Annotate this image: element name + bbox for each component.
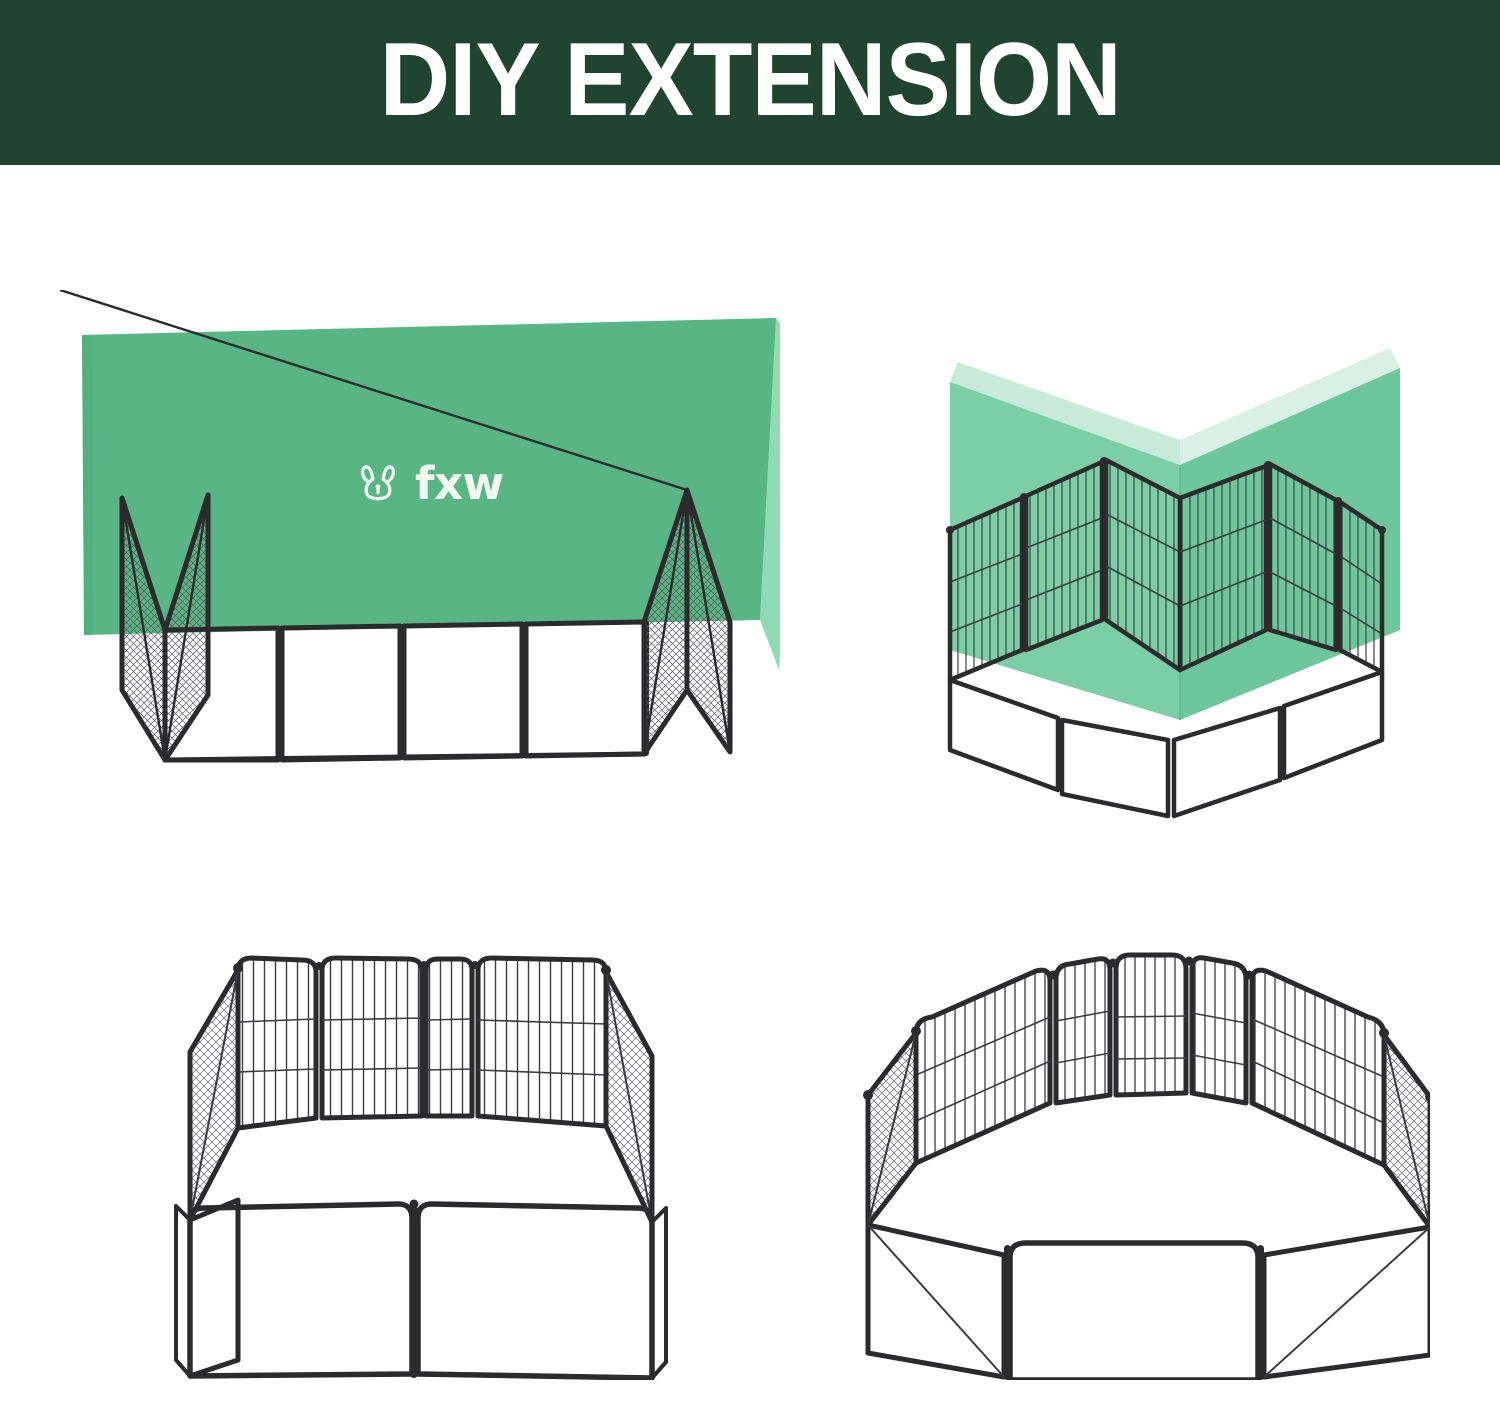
figure-straight-wall-extension [60,290,780,800]
fence-panel [1340,502,1382,672]
fence-panel-right-side [606,972,652,1222]
fence-front-run [165,620,649,762]
product-image-page: DIY EXTENSION [0,0,1500,1401]
fence-panel-front [1174,708,1280,816]
fence-panel-back-centre-left [1056,959,1110,1103]
fence-panel-front-left [868,1225,1004,1377]
fence-corner-enclosure [946,457,1386,816]
page-title: DIY EXTENSION [379,28,1120,138]
fence-panel [950,498,1022,680]
fence-panel-front-right [418,1204,652,1378]
fence-panel-back-centre [322,958,422,1118]
fence-panel-left-front [176,1200,238,1376]
figure-octagon-enclosure [850,925,1430,1380]
fence-panel-front [1062,720,1168,816]
fence-panel-front-right [1264,1227,1430,1377]
fence-panel-back-right [478,958,606,1126]
fence-panel [1026,462,1102,650]
figure-corner-wall-extension [930,320,1430,820]
fence-panel-back-door [426,959,472,1116]
fence-panel-left-side [190,970,238,1220]
fence-panel-back-left [238,958,316,1128]
fence-panel-front [1284,672,1382,778]
fence-panel-front-centre [1010,1243,1258,1380]
fence-panel-front [950,680,1058,790]
fence-panel-front-left [190,1204,412,1376]
figure-square-enclosure [160,930,680,1380]
header-banner: DIY EXTENSION [0,0,1500,165]
fence-panel-left [868,1033,916,1225]
fence-panel-back-right [1252,970,1384,1165]
fence-panel-right [1384,1035,1430,1227]
fence-panel-back-centre-right [1192,958,1246,1103]
fence-panel-back-door [1116,955,1186,1095]
fence-panel-back-left [916,970,1050,1163]
